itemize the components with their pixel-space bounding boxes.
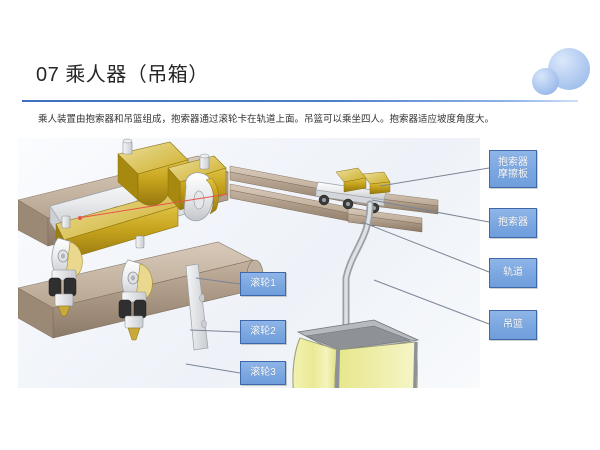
illustration-3d-assembly (18, 138, 480, 388)
grip-assembly-detail (18, 139, 263, 350)
callout-cabin[interactable]: 吊篮 (489, 310, 537, 340)
callout-roller-3-label: 滚轮3 (250, 367, 276, 380)
callout-track-label: 轨道 (503, 267, 523, 280)
callout-grip[interactable]: 抱索器 (489, 208, 537, 238)
callout-roller-2[interactable]: 滚轮2 (240, 320, 286, 344)
callout-grip-friction-plate[interactable]: 抱索器 摩擦板 (489, 150, 537, 188)
decorative-circle-large-icon (548, 48, 590, 90)
callout-grip-friction-plate-label-line2: 摩擦板 (498, 169, 528, 182)
callout-roller-1-label: 滚轮1 (250, 278, 276, 291)
callout-grip-friction-plate-label-line1: 抱索器 (498, 157, 528, 170)
callout-grip-label: 抱索器 (498, 217, 528, 230)
callout-roller-2-label: 滚轮2 (250, 326, 276, 339)
page-title: 07 乘人器（吊箱） (36, 58, 209, 87)
callout-roller-3[interactable]: 滚轮3 (240, 361, 286, 385)
header-decoration (510, 0, 600, 105)
title-divider (22, 100, 578, 102)
decorative-circle-small-icon (532, 68, 559, 95)
callout-cabin-label: 吊篮 (503, 319, 523, 332)
slide-subtitle: 乘人装置由抱索器和吊篮组成，抱索器通过滚轮卡在轨道上面。吊篮可以乘坐四人。抱索器… (38, 113, 578, 127)
slide-canvas: 07 乘人器（吊箱） 乘人装置由抱索器和吊篮组成，抱索器通过滚轮卡在轨道上面。吊… (0, 0, 600, 450)
callout-track[interactable]: 轨道 (489, 258, 537, 288)
callout-roller-1[interactable]: 滚轮1 (240, 272, 286, 296)
